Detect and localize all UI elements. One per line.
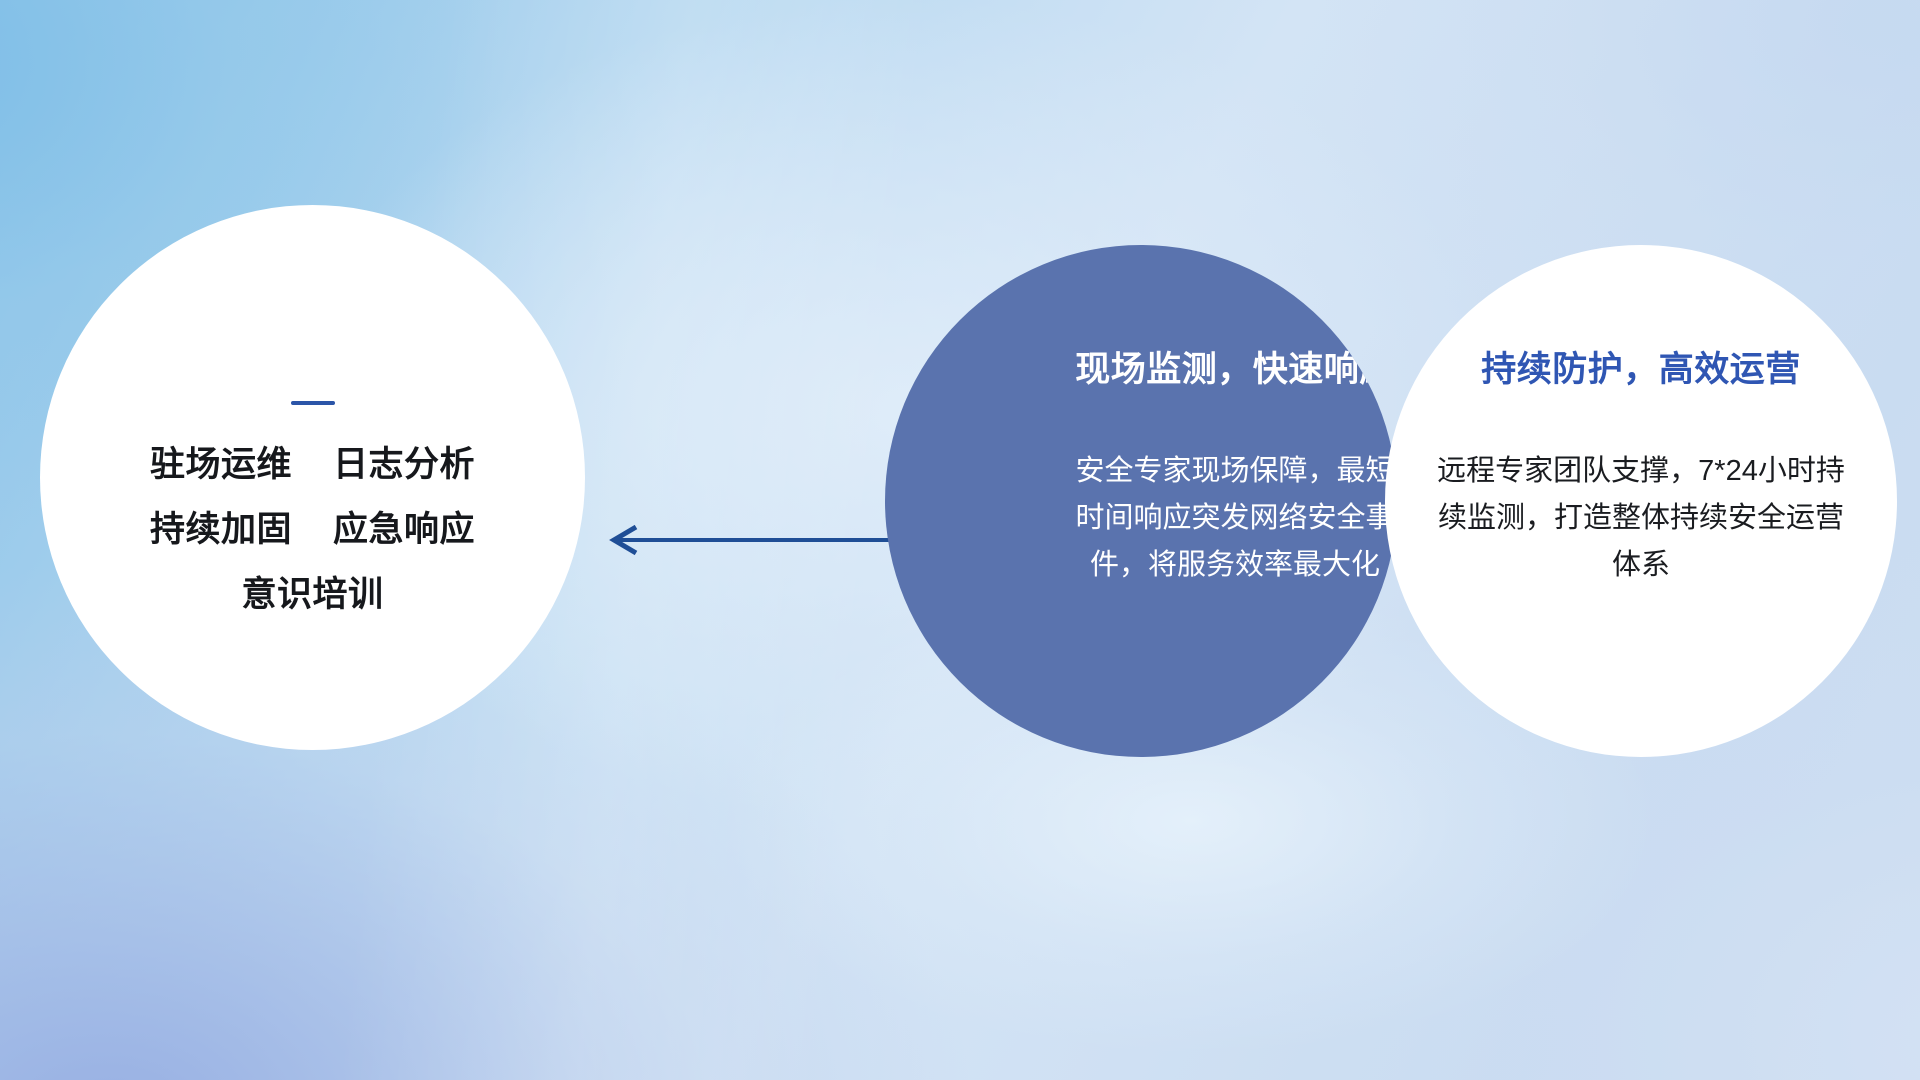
continuous-protection-title: 持续防护，高效运营 (1481, 341, 1801, 392)
capabilities-circle[interactable]: 驻场运维 日志分析 持续加固 应急响应 意识培训 (40, 205, 585, 750)
capabilities-content: 驻场运维 日志分析 持续加固 应急响应 意识培训 (40, 205, 585, 750)
slide-canvas: 驻场运维 日志分析 持续加固 应急响应 意识培训 现场监测，快速响应 安全专家现… (0, 0, 1920, 1080)
list-item: 驻场运维 日志分析 (150, 447, 475, 484)
continuous-protection-content: 持续防护，高效运营 远程专家团队支撑，7*24小时持续监测，打造整体持续安全运营… (1385, 245, 1897, 757)
onsite-monitoring-title: 现场监测，快速响应 (1075, 341, 1395, 392)
onsite-monitoring-circle[interactable]: 现场监测，快速响应 安全专家现场保障，最短时间响应突发网络安全事件，将服务效率最… (885, 245, 1397, 757)
list-item: 持续加固 应急响应 (150, 512, 475, 549)
arrow-left-icon (596, 520, 896, 560)
capabilities-list: 驻场运维 日志分析 持续加固 应急响应 意识培训 (150, 447, 475, 613)
onsite-monitoring-body: 安全专家现场保障，最短时间响应突发网络安全事件，将服务效率最大化 (1065, 448, 1397, 589)
continuous-protection-body: 远程专家团队支撑，7*24小时持续监测，打造整体持续安全运营体系 (1431, 448, 1851, 589)
continuous-protection-circle[interactable]: 持续防护，高效运营 远程专家团队支撑，7*24小时持续监测，打造整体持续安全运营… (1385, 245, 1897, 757)
list-item: 意识培训 (241, 577, 383, 614)
flow-arrow (596, 520, 896, 560)
onsite-monitoring-content: 现场监测，快速响应 安全专家现场保障，最短时间响应突发网络安全事件，将服务效率最… (885, 245, 1397, 757)
title-divider (291, 401, 335, 405)
